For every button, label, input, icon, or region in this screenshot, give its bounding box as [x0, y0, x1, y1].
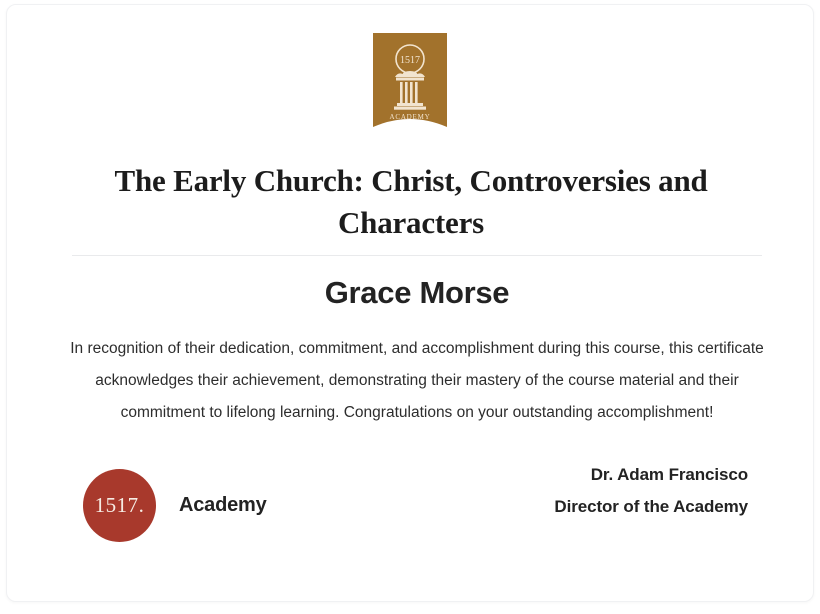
organization-block: 1517. Academy — [83, 469, 267, 542]
academy-banner-logo-icon: 1517 ACADEMY — [373, 33, 447, 127]
svg-text:1517: 1517 — [400, 55, 420, 66]
signer-title: Director of the Academy — [554, 497, 748, 517]
signature-block: Dr. Adam Francisco Director of the Acade… — [554, 465, 748, 517]
organization-name: Academy — [179, 494, 267, 517]
svg-text:ACADEMY: ACADEMY — [390, 113, 431, 121]
certificate-card: 1517 ACADEMY The Early Church: Christ, C… — [6, 4, 814, 602]
signer-name: Dr. Adam Francisco — [554, 465, 748, 485]
course-title: The Early Church: Christ, Controversies … — [77, 160, 745, 244]
title-divider — [72, 255, 762, 256]
academy-seal-badge: 1517. — [83, 469, 156, 542]
certificate-body-text: In recognition of their dedication, comm… — [69, 333, 765, 429]
recipient-name: Grace Morse — [67, 275, 767, 311]
emblem-container: 1517 ACADEMY — [7, 33, 813, 127]
